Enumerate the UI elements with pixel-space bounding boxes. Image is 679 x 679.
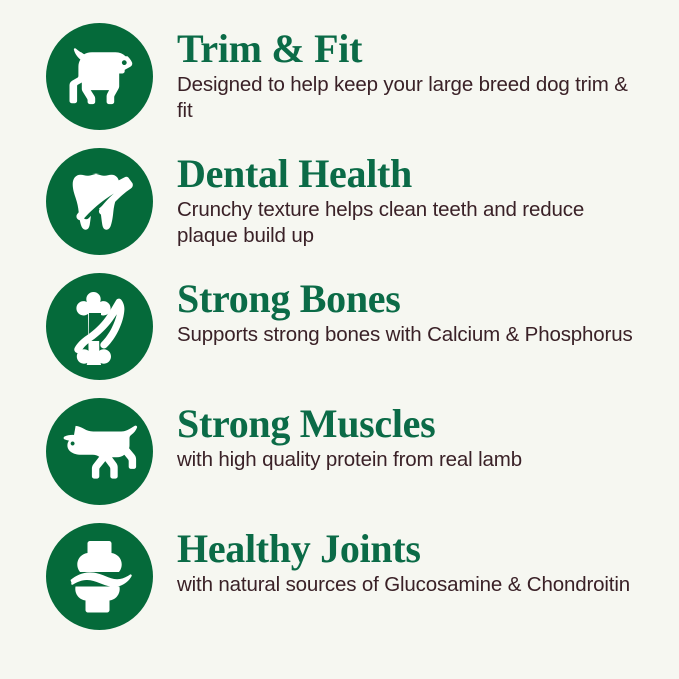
benefit-icon-badge	[46, 23, 153, 130]
benefit-description: Designed to help keep your large breed d…	[177, 72, 637, 124]
benefit-icon-badge	[46, 523, 153, 630]
tooth-leaf-icon	[66, 168, 134, 236]
dog-walking-left-icon	[60, 423, 140, 481]
benefit-description: Crunchy texture helps clean teeth and re…	[177, 197, 637, 249]
benefit-text-block: Dental Health Crunchy texture helps clea…	[153, 147, 679, 249]
benefits-panel: Trim & Fit Designed to help keep your la…	[0, 0, 679, 679]
benefit-description: with natural sources of Glucosamine & Ch…	[177, 572, 637, 598]
benefit-description: Supports strong bones with Calcium & Pho…	[177, 322, 637, 348]
benefit-title: Trim & Fit	[177, 27, 679, 70]
bone-leaf-icon	[68, 289, 132, 365]
benefit-text-block: Healthy Joints with natural sources of G…	[153, 522, 679, 598]
benefit-title: Strong Muscles	[177, 402, 679, 445]
joint-leaf-icon	[66, 539, 134, 615]
benefit-item-strong-muscles: Strong Muscles with high quality protein…	[0, 397, 679, 522]
benefit-text-block: Strong Bones Supports strong bones with …	[153, 272, 679, 348]
benefit-text-block: Strong Muscles with high quality protein…	[153, 397, 679, 473]
benefit-item-healthy-joints: Healthy Joints with natural sources of G…	[0, 522, 679, 647]
dog-standing-right-icon	[62, 46, 138, 108]
benefit-title: Healthy Joints	[177, 527, 679, 570]
benefit-icon-badge	[46, 273, 153, 380]
benefit-item-trim-and-fit: Trim & Fit Designed to help keep your la…	[0, 22, 679, 147]
benefit-icon-badge	[46, 398, 153, 505]
benefit-icon-badge	[46, 148, 153, 255]
benefit-title: Dental Health	[177, 152, 679, 195]
benefit-item-strong-bones: Strong Bones Supports strong bones with …	[0, 272, 679, 397]
benefit-description: with high quality protein from real lamb	[177, 447, 637, 473]
benefit-title: Strong Bones	[177, 277, 679, 320]
benefit-text-block: Trim & Fit Designed to help keep your la…	[153, 22, 679, 124]
benefit-item-dental-health: Dental Health Crunchy texture helps clea…	[0, 147, 679, 272]
